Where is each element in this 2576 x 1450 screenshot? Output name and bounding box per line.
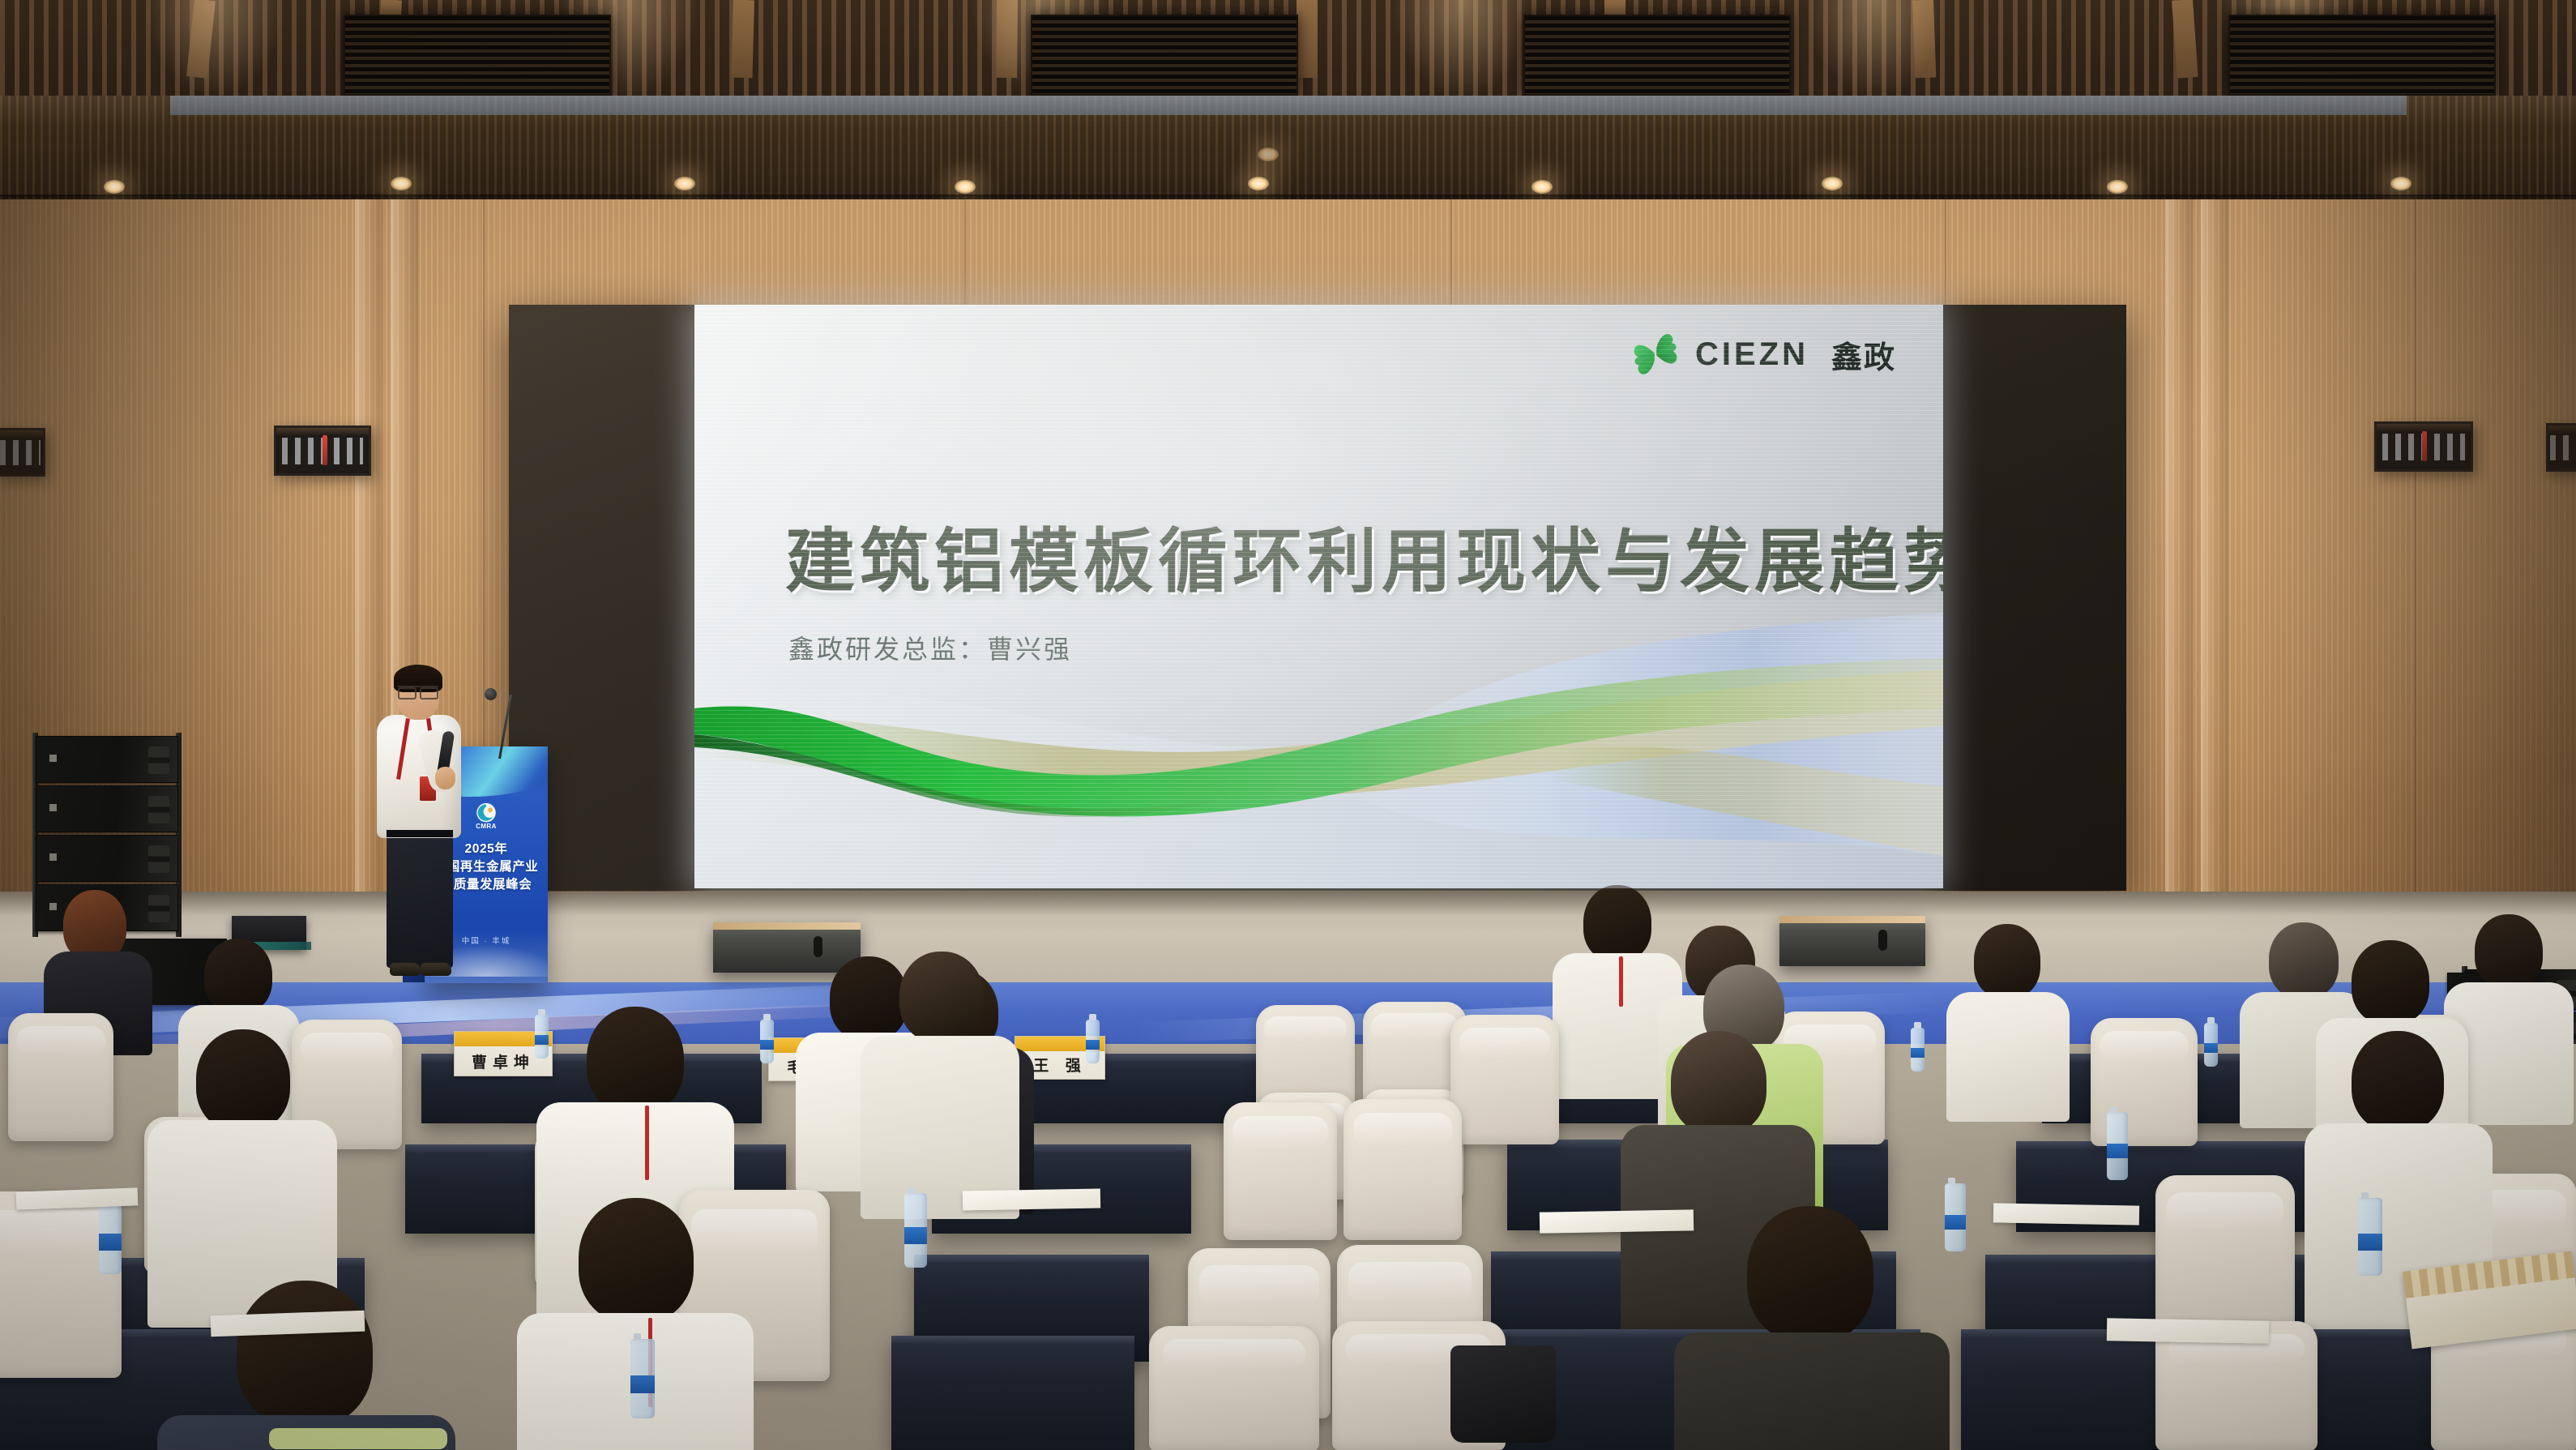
audience-chair xyxy=(1224,1102,1337,1240)
person-head xyxy=(196,1029,290,1131)
ceiling-beam xyxy=(996,0,1018,78)
person-shirt-stripe xyxy=(269,1428,447,1449)
person-head xyxy=(63,890,126,961)
niche-slats xyxy=(0,440,40,465)
person-head xyxy=(2352,940,2429,1024)
niche-red-marker xyxy=(323,435,327,465)
array-led xyxy=(49,853,57,861)
wall-niche-display xyxy=(2374,421,2473,472)
ceiling-downlight xyxy=(955,180,976,194)
niche-slats xyxy=(2550,435,2576,460)
array-led xyxy=(49,903,57,910)
conference-hall-scene: CIEZN 鑫政 建筑铝模板循环利用现状与发展趋势 鑫政研发总监：曹兴强 xyxy=(0,0,2576,1450)
water-bottle xyxy=(1086,1020,1100,1063)
water-bottle xyxy=(99,1200,122,1274)
array-box xyxy=(36,835,178,882)
stage-monitor-speaker xyxy=(1779,916,1925,966)
water-bottle xyxy=(1911,1028,1925,1071)
ceiling-grille-panel xyxy=(344,15,611,96)
wall-pilaster xyxy=(2201,199,2228,961)
gooseneck-microphone-icon xyxy=(485,688,497,700)
ceiling-downlight xyxy=(2390,177,2412,190)
ceiling-downlight xyxy=(104,180,125,194)
led-screen-frame: CIEZN 鑫政 建筑铝模板循环利用现状与发展趋势 鑫政研发总监：曹兴强 xyxy=(509,305,2126,891)
ceiling-downlight xyxy=(1248,177,1269,190)
cmra-logo-icon: CMRA xyxy=(469,798,503,832)
person-torso xyxy=(1946,992,2070,1122)
ceiling-soffit xyxy=(170,96,2407,115)
person-head xyxy=(830,956,908,1041)
document-paper xyxy=(1993,1203,2139,1225)
water-bottle xyxy=(2204,1023,2218,1067)
slide-logo-text-cn: 鑫政 xyxy=(1831,332,1896,377)
presenter-shoe xyxy=(421,963,451,976)
slide-title: 建筑铝模板循环利用现状与发展趋势 xyxy=(785,504,1943,605)
ceiling-grille-panel xyxy=(2228,15,2496,96)
person-head xyxy=(237,1281,373,1426)
document-paper xyxy=(1540,1209,1694,1233)
slide-subtitle: 鑫政研发总监：曹兴强 xyxy=(788,629,1072,666)
water-bottle xyxy=(760,1020,774,1063)
table-top-edge xyxy=(914,1255,1149,1263)
array-led xyxy=(49,804,57,811)
ceiling xyxy=(0,0,2576,201)
ceiling-beam xyxy=(731,0,754,78)
water-bottle xyxy=(904,1193,927,1268)
ceiling-downlight xyxy=(391,177,412,190)
document-paper xyxy=(963,1189,1100,1211)
ceiling-grille-panel xyxy=(1523,15,1791,96)
ceiling-beam xyxy=(1912,0,1936,78)
presenter-trousers xyxy=(387,832,453,968)
person-head xyxy=(1747,1206,1873,1342)
presenter-glasses-icon xyxy=(398,686,438,695)
ceiling-downlight xyxy=(1532,180,1553,194)
monitor-top-edge xyxy=(1779,916,1925,923)
ceiling-downlight xyxy=(1822,177,1843,190)
person-torso xyxy=(1674,1332,1950,1450)
audience-chair xyxy=(8,1013,113,1141)
water-bottle xyxy=(535,1015,549,1059)
niche-top-edge xyxy=(276,428,369,435)
niche-top-edge xyxy=(2377,424,2471,431)
audience-chair xyxy=(1149,1326,1319,1450)
water-bottle xyxy=(1945,1183,1966,1251)
slide-logo-text: CIEZN xyxy=(1695,336,1809,373)
water-bottle xyxy=(2358,1198,2382,1276)
water-bottle xyxy=(630,1339,655,1418)
ceiling-downlight xyxy=(2107,180,2128,194)
svg-text:CMRA: CMRA xyxy=(476,823,497,830)
monitor-handle-slot xyxy=(814,936,822,957)
array-box xyxy=(36,736,178,783)
person-head xyxy=(579,1198,694,1323)
person-head xyxy=(587,1007,684,1114)
person-lanyard xyxy=(645,1106,649,1180)
ceiling-smoke-detector xyxy=(1258,148,1279,161)
presenter-shoe xyxy=(390,963,421,976)
wall-seam xyxy=(2415,199,2416,961)
wall-niche-display xyxy=(0,428,45,477)
person-head xyxy=(1974,924,2040,999)
ceiling-downlight xyxy=(674,177,695,190)
presenter-belt xyxy=(387,830,453,837)
person-head xyxy=(204,939,272,1013)
monitor-top-edge xyxy=(713,922,861,930)
array-box xyxy=(36,785,178,832)
person-head xyxy=(899,952,984,1042)
ciezn-pinwheel-logo-icon xyxy=(1630,329,1681,379)
table-top-edge xyxy=(891,1336,1134,1344)
stage-monitor-speaker xyxy=(713,922,861,973)
presenter-person xyxy=(369,665,474,989)
audience-chair xyxy=(2155,1175,2295,1342)
water-bottle xyxy=(2107,1112,2128,1180)
presenter-hand xyxy=(435,767,455,789)
person-head xyxy=(2352,1031,2444,1131)
audience-table xyxy=(891,1336,1134,1450)
array-led xyxy=(49,755,57,762)
person-head xyxy=(2269,922,2339,999)
person-head xyxy=(1671,1031,1766,1135)
wall-niche-display xyxy=(2546,423,2576,472)
niche-red-marker xyxy=(2422,431,2427,461)
wall-pilaster xyxy=(2165,199,2193,961)
niche-top-edge xyxy=(0,430,43,438)
audience-chair xyxy=(1450,1015,1559,1144)
ceiling-grille-panel xyxy=(1031,15,1298,96)
monitor-handle-slot xyxy=(1878,930,1887,951)
person-lanyard xyxy=(1619,956,1623,1007)
person-head xyxy=(1583,885,1651,961)
person-head xyxy=(2475,914,2543,989)
slide-brand-logo: CIEZN 鑫政 xyxy=(1630,329,1896,379)
conference-bag xyxy=(1450,1345,1556,1443)
wall-niche-display xyxy=(274,426,371,476)
document-paper xyxy=(2107,1318,2269,1343)
niche-top-edge xyxy=(2548,426,2576,433)
ceiling-beam xyxy=(1297,0,1318,78)
presentation-slide: CIEZN 鑫政 建筑铝模板循环利用现状与发展趋势 鑫政研发总监：曹兴强 xyxy=(694,305,1943,888)
audience-chair xyxy=(1344,1099,1462,1240)
